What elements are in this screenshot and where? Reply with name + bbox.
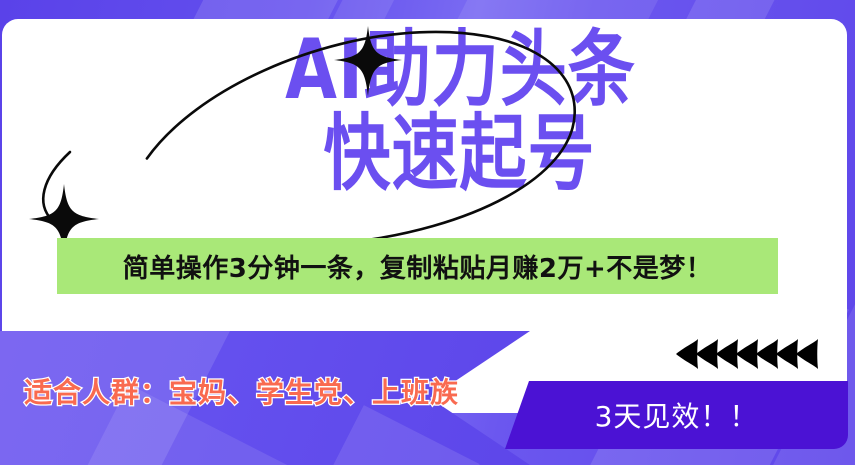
headline-line-2: 快速起号 <box>32 114 855 195</box>
headline-line-1: AI助力头条 <box>33 30 855 111</box>
band-streak <box>250 405 479 465</box>
result-text: 3天见效！！ <box>505 381 848 449</box>
promo-poster: AI助力头条 快速起号 简单操作3分钟一条，复制粘贴月赚2万+不是梦！ 适合人群… <box>0 0 855 465</box>
left-chevron-arrows-icon <box>676 339 836 369</box>
audience-text: 适合人群：宝妈、学生党、上班族 <box>24 371 459 411</box>
tagline-text: 简单操作3分钟一条，复制粘贴月赚2万+不是梦！ <box>57 238 778 294</box>
headline: AI助力头条 快速起号 <box>0 30 855 179</box>
